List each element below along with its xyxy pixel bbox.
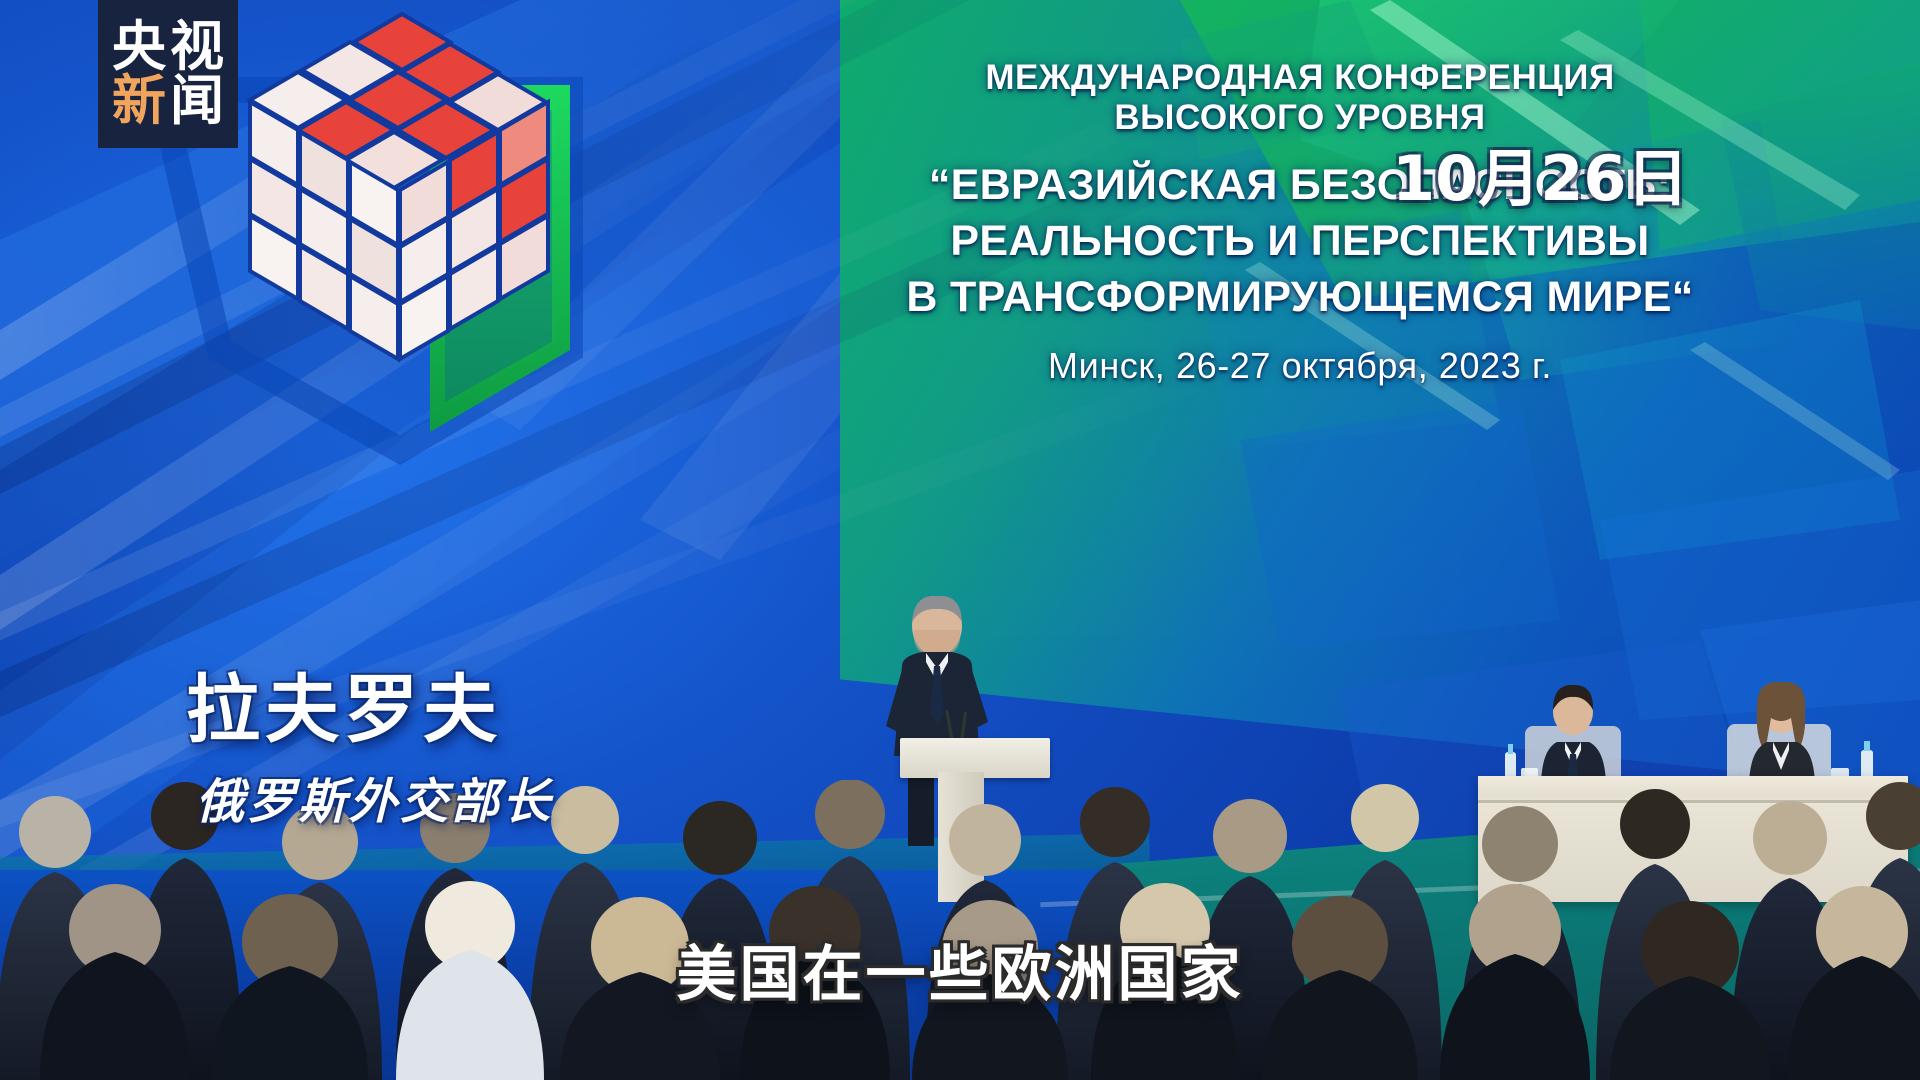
logo-char-xin: 新 [112,74,166,128]
broadcast-frame: 央 视 新 闻 МЕЖДУНАРОДНАЯ КОНФЕРЕНЦИЯ ВЫСОКО… [0,0,1920,1080]
banner-title-line-2: РЕАЛЬНОСТЬ И ПЕРСПЕКТИВЫ [880,214,1720,270]
banner-kicker-line-1: МЕЖДУНАРОДНАЯ КОНФЕРЕНЦИЯ [880,58,1720,98]
logo-line-2: 新 闻 [112,74,224,128]
logo-char-wen: 闻 [170,74,224,128]
date-overlay: 10月26日 [1392,128,1689,218]
speaker-role: 俄罗斯外交部长 [196,762,553,832]
banner-place-date: Минск, 26-27 октября, 2023 г. [880,345,1720,387]
speaker-name-chyron: 拉夫罗夫 俄罗斯外交部长 [186,672,553,832]
caption-subtitle: 美国在一些欧洲国家 [0,926,1920,1013]
cctv-news-logo: 央 视 新 闻 [98,0,238,148]
logo-char-yang: 央 [112,20,166,74]
conference-banner-text: МЕЖДУНАРОДНАЯ КОНФЕРЕНЦИЯ ВЫСОКОГО УРОВН… [880,58,1720,387]
panelists [1495,680,1895,790]
banner-title-line-3: В ТРАНСФОРМИРУЮЩЕМСЯ МИРЕ“ [880,270,1720,326]
banner-kicker: МЕЖДУНАРОДНАЯ КОНФЕРЕНЦИЯ ВЫСОКОГО УРОВН… [880,58,1720,138]
logo-char-shi: 视 [170,20,224,74]
speaker-name: 拉夫罗夫 [186,672,553,750]
logo-line-1: 央 视 [112,20,224,74]
